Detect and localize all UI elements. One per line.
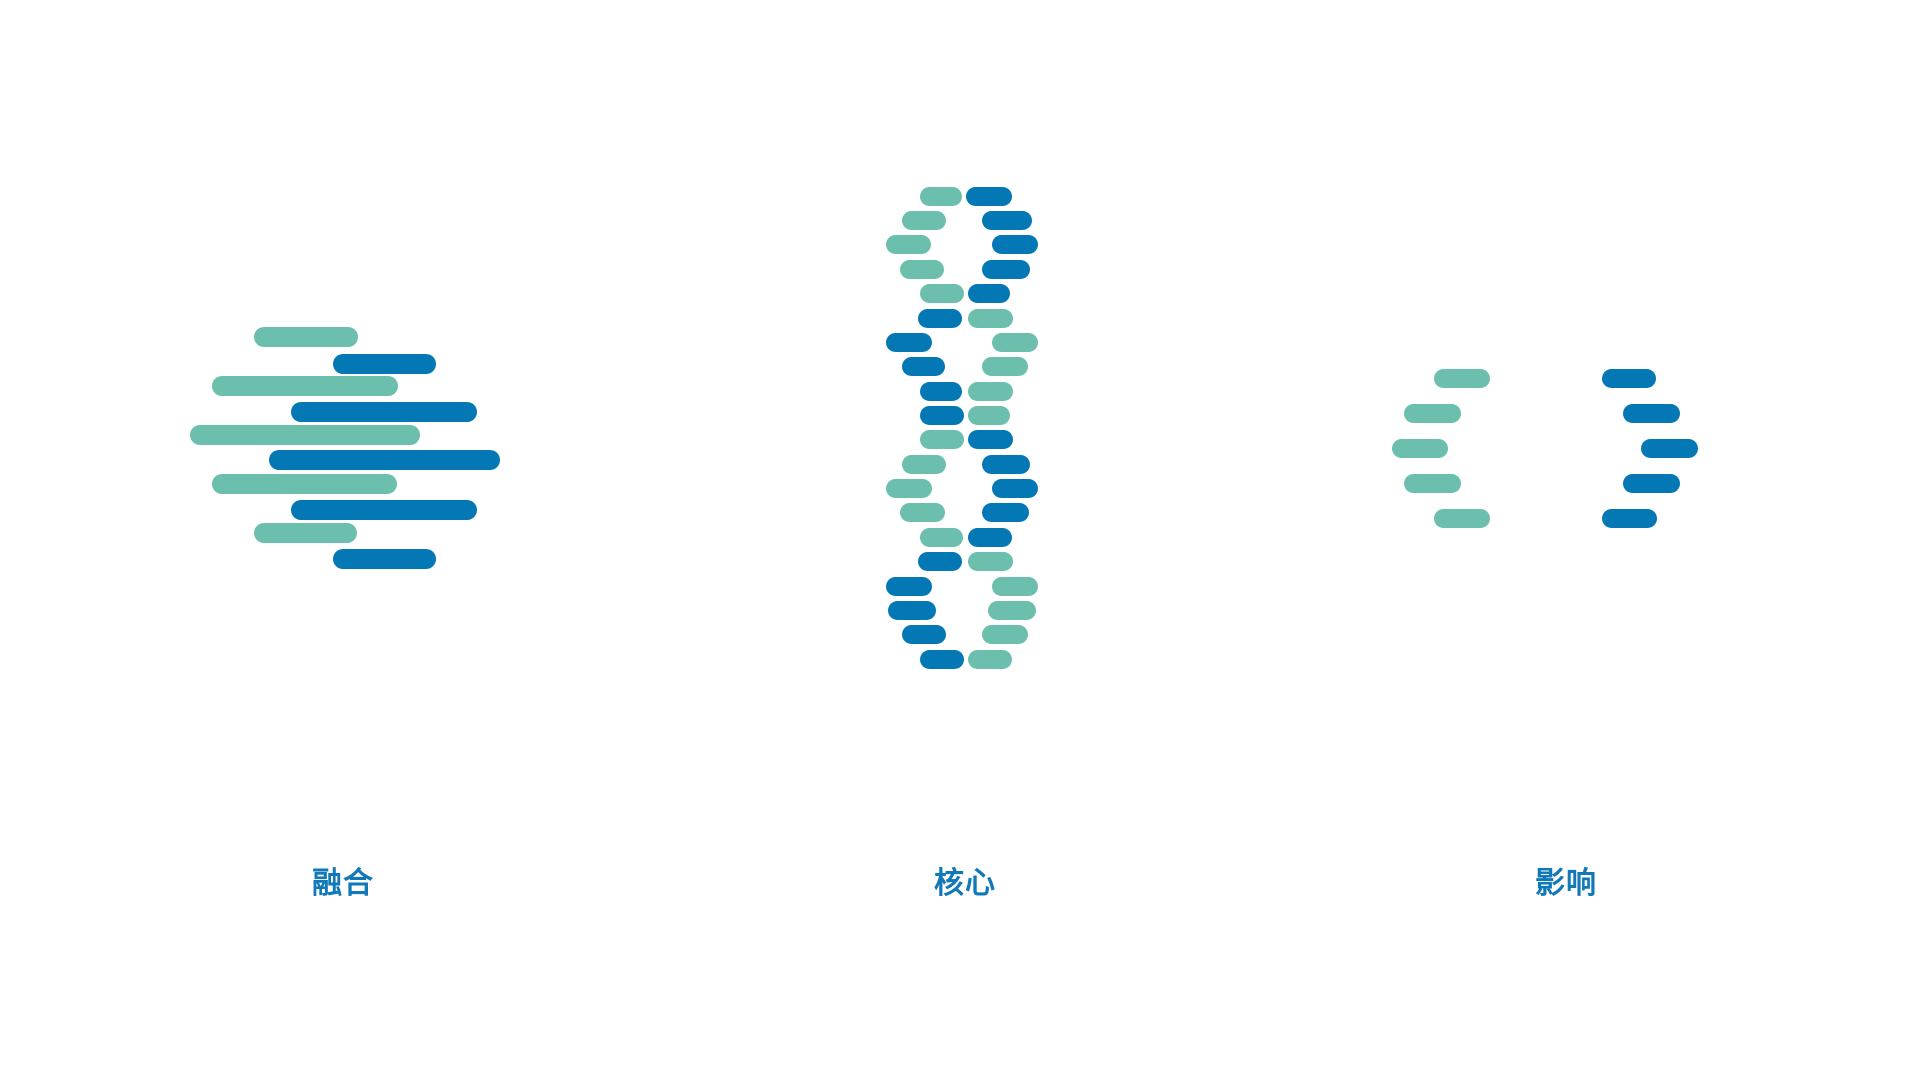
glyph-bar	[968, 430, 1013, 449]
glyph-bar	[968, 528, 1012, 547]
glyph-bar	[1602, 369, 1656, 388]
glyph-bar	[1623, 404, 1680, 423]
glyph-bar	[902, 455, 946, 474]
glyph-bar	[1434, 509, 1490, 528]
glyph-bar	[886, 333, 932, 352]
glyph-bar	[212, 474, 397, 494]
glyph-group-fusion	[0, 0, 1920, 1080]
glyph-bar	[190, 425, 420, 445]
glyph-bar	[254, 523, 357, 543]
glyph-bar	[920, 284, 964, 303]
glyph-bar	[1404, 404, 1461, 423]
glyph-bar	[900, 503, 945, 522]
glyph-bar	[888, 601, 936, 620]
glyph-bar	[968, 406, 1010, 425]
glyph-bar	[1623, 474, 1680, 493]
glyph-bar	[291, 500, 477, 520]
glyph-bar	[254, 327, 358, 347]
glyph-bar	[968, 552, 1013, 571]
glyph-bar	[886, 235, 931, 254]
glyph-bar	[992, 577, 1038, 596]
glyph-bar	[1602, 509, 1657, 528]
glyph-bar	[333, 354, 436, 374]
glyph-bar	[920, 382, 962, 401]
glyph-bar	[988, 601, 1036, 620]
glyph-bar	[982, 625, 1028, 644]
glyph-bar	[918, 309, 962, 328]
glyph-bar	[1434, 369, 1490, 388]
glyph-bar	[900, 260, 944, 279]
glyph-bar	[333, 549, 436, 569]
glyph-bar	[886, 577, 932, 596]
glyph-bar	[992, 235, 1038, 254]
glyph-bar	[968, 382, 1013, 401]
glyph-bar	[1392, 439, 1448, 458]
glyph-bar	[291, 402, 477, 422]
glyph-bar	[982, 260, 1030, 279]
glyph-bar	[920, 187, 962, 206]
glyph-bar	[902, 357, 945, 376]
glyph-bar	[966, 187, 1012, 206]
glyph-bar	[269, 450, 500, 470]
glyph-bar	[918, 552, 962, 571]
glyph-group-core	[0, 0, 1920, 1080]
glyph-bar	[902, 625, 946, 644]
caption-impact: 影响	[1535, 858, 1597, 902]
glyph-bar	[1404, 474, 1461, 493]
caption-core: 核心	[934, 858, 996, 902]
glyph-bar	[212, 376, 398, 396]
glyph-bar	[968, 284, 1010, 303]
glyph-bar	[982, 503, 1029, 522]
glyph-bar	[1641, 439, 1698, 458]
glyph-bar	[968, 650, 1012, 669]
glyph-bar	[992, 333, 1038, 352]
caption-fusion: 融合	[312, 858, 374, 902]
glyph-bar	[920, 528, 963, 547]
glyph-bar	[982, 211, 1032, 230]
canvas-stage: 融合 核心 影响	[0, 0, 1920, 1080]
glyph-bar	[886, 479, 932, 498]
glyph-bar	[992, 479, 1038, 498]
glyph-bar	[920, 430, 964, 449]
glyph-group-impact	[0, 0, 1920, 1080]
glyph-bar	[968, 309, 1013, 328]
glyph-bar	[982, 455, 1030, 474]
glyph-bar	[920, 406, 964, 425]
glyph-bar	[902, 211, 946, 230]
glyph-bar	[920, 650, 964, 669]
glyph-bar	[982, 357, 1028, 376]
